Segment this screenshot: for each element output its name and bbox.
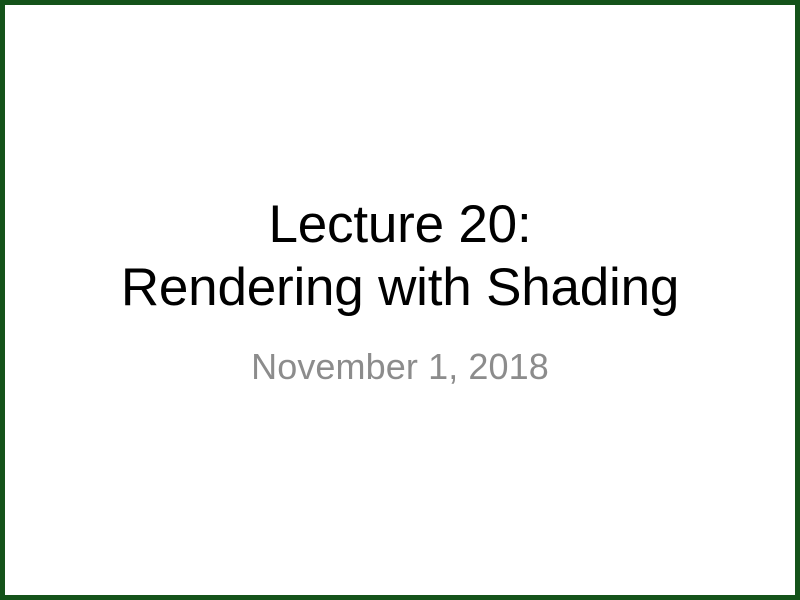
slide-date-subtitle: November 1, 2018: [5, 345, 795, 389]
slide-body-area: [5, 405, 795, 585]
title-block: Lecture 20: Rendering with Shading: [5, 193, 795, 319]
slide-content: Lecture 20: Rendering with Shading Novem…: [5, 5, 795, 595]
slide: Lecture 20: Rendering with Shading Novem…: [0, 0, 800, 600]
slide-title: Lecture 20: Rendering with Shading: [5, 193, 795, 319]
slide-border-right: [795, 0, 800, 600]
subtitle-block: November 1, 2018: [5, 345, 795, 389]
slide-border-bottom: [0, 595, 800, 600]
